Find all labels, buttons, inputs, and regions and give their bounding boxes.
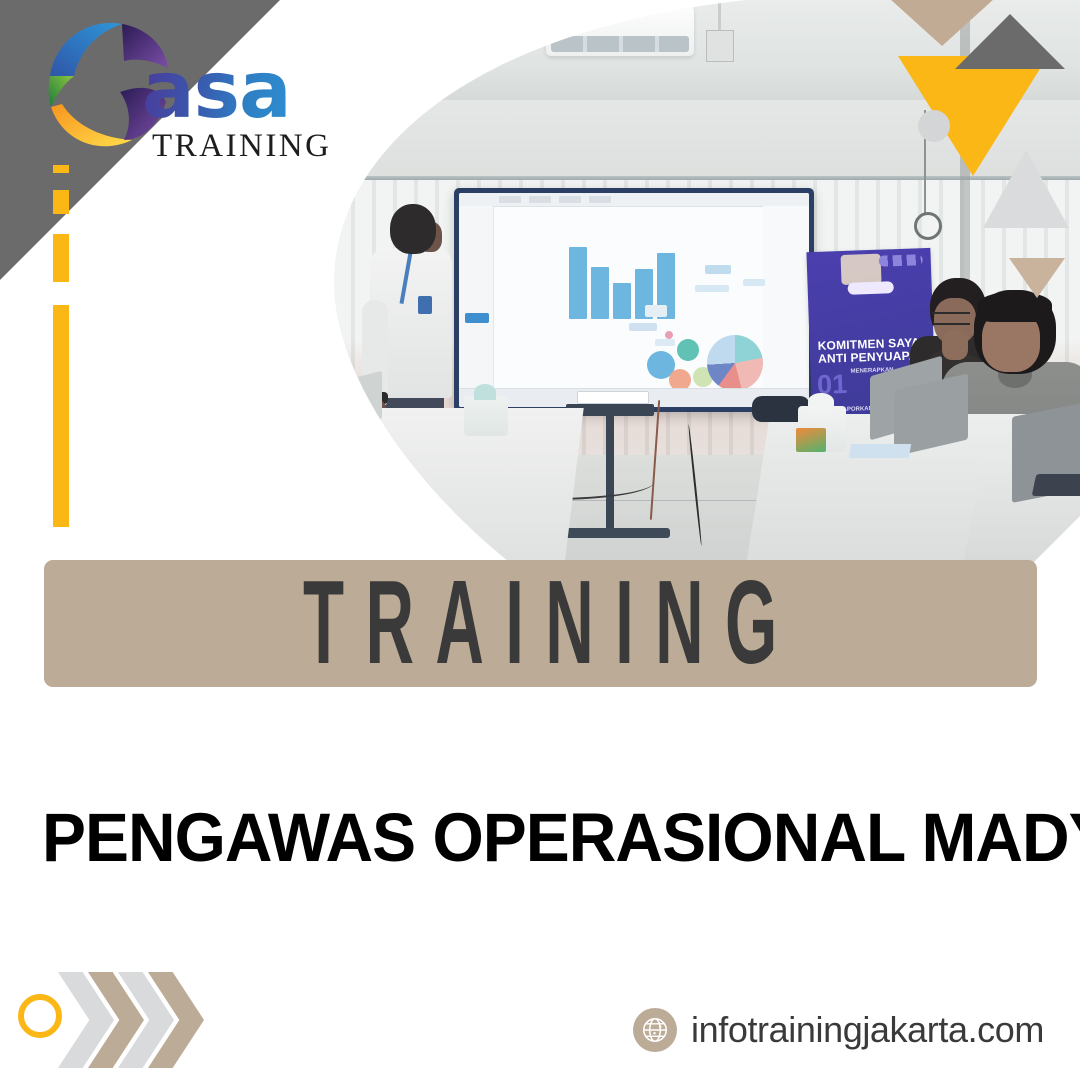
screen-bubble-5 — [665, 331, 673, 339]
yellow-dash-3 — [53, 234, 69, 282]
screen-left-pane — [459, 206, 494, 389]
tan-small-inverted-triangle-icon — [1009, 258, 1065, 298]
screen-label-b — [629, 323, 657, 331]
interactive-display-board — [454, 188, 814, 412]
yellow-dash-2 — [53, 190, 69, 214]
papers-on-table — [849, 444, 911, 458]
brand-logo: asa TRAINING — [32, 14, 342, 166]
logo-subtitle: TRAINING — [152, 130, 331, 163]
footer-website[interactable]: infotrainingjakarta.com — [633, 1008, 1044, 1052]
left-table — [334, 408, 584, 566]
ac-pipe — [718, 0, 721, 34]
globe-icon — [633, 1008, 677, 1052]
left-tissue-box — [464, 396, 508, 436]
screen-bubble-2 — [677, 339, 699, 361]
yellow-dash-4 — [53, 305, 69, 527]
presenter-head — [390, 204, 436, 254]
poster-logo-chip — [848, 281, 894, 295]
screen-toolbar — [459, 193, 809, 207]
screen-bar-chart — [569, 241, 695, 319]
poster-canvas: KOMITMEN SAYAANTI PENYUAPAN 01 MENERAPKA… — [0, 0, 1080, 1080]
poster-dots — [879, 254, 923, 267]
screen-pie-chart — [707, 335, 763, 391]
left-laptop — [334, 371, 382, 433]
presenter-badge — [418, 296, 432, 314]
screen-label-d — [705, 265, 731, 274]
screen-right-pane — [763, 206, 809, 389]
page-title: PENGAWAS OPERASIONAL MADYA — [42, 798, 997, 877]
air-conditioner-icon — [546, 6, 694, 56]
attendee-1-glasses — [932, 312, 970, 325]
yellow-ring-icon — [18, 994, 62, 1038]
screen-left-button — [465, 313, 489, 323]
screen-label-c — [655, 339, 675, 346]
logo-wordmark: asa — [142, 52, 291, 130]
right-tissue-box — [798, 406, 846, 452]
grey-triangle-icon — [955, 14, 1065, 69]
grey-circle-icon — [918, 110, 950, 142]
screen-search-field — [577, 391, 649, 404]
screen-label-e — [695, 285, 729, 292]
hanging-ring — [914, 212, 942, 240]
white-triangle-icon — [983, 150, 1069, 228]
display-screen — [459, 193, 809, 407]
chevron-arrows-decoration — [18, 972, 208, 1068]
screen-label-a — [645, 305, 667, 317]
yellow-dash-1 — [53, 165, 69, 173]
ac-wall-box — [706, 30, 734, 62]
phone-on-table — [1032, 474, 1080, 496]
poster-artwork — [841, 254, 882, 285]
website-url[interactable]: infotrainingjakarta.com — [691, 1009, 1044, 1051]
training-banner-label: TRAINING — [282, 555, 799, 691]
display-stand-base — [552, 528, 670, 538]
attendee-1-hand — [942, 330, 968, 360]
screen-label-f — [743, 279, 765, 286]
training-banner: TRAINING — [44, 560, 1037, 687]
